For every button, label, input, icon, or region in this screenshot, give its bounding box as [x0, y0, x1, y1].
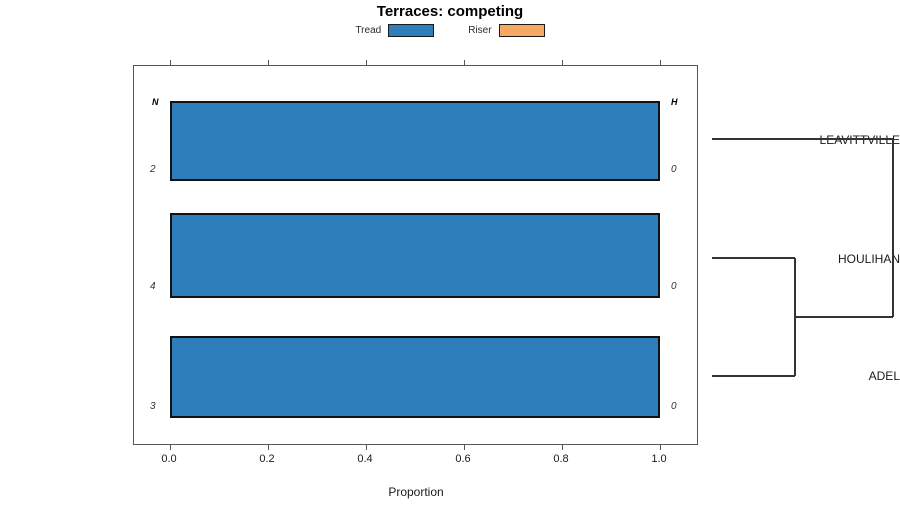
legend-item-riser[interactable]: Riser — [468, 24, 544, 37]
legend: Tread Riser — [0, 24, 900, 37]
row-count-left-adel: 3 — [150, 401, 156, 412]
xtick-label-2: 0.4 — [357, 453, 372, 465]
dendrogram-svg — [700, 65, 900, 445]
tick-bottom-5 — [660, 444, 661, 450]
tick-top-0 — [170, 60, 171, 66]
xtick-label-4: 0.8 — [553, 453, 568, 465]
x-axis-title: Proportion — [0, 485, 832, 499]
chart-root: Terraces: competing Tread Riser LEAVITTV… — [0, 0, 900, 520]
bar-tread-leavittville[interactable] — [170, 101, 660, 181]
tick-bottom-0 — [170, 444, 171, 450]
tick-top-2 — [366, 60, 367, 66]
row-count-right-adel: 0 — [671, 401, 677, 412]
tick-bottom-2 — [366, 444, 367, 450]
tick-bottom-3 — [464, 444, 465, 450]
tick-top-5 — [660, 60, 661, 66]
row-count-right-houlihan: 0 — [671, 281, 677, 292]
tick-top-4 — [562, 60, 563, 66]
legend-label-tread: Tread — [355, 25, 381, 36]
bar-tread-adel[interactable] — [170, 336, 660, 418]
row-count-left-houlihan: 4 — [150, 281, 156, 292]
row-count-right-leavittville: 0 — [671, 164, 677, 175]
row-header-left-n: N — [152, 97, 159, 107]
plot-panel: N H 2 0 4 0 3 0 — [133, 65, 698, 445]
dendrogram — [700, 65, 900, 445]
legend-swatch-riser — [499, 24, 545, 37]
tick-top-3 — [464, 60, 465, 66]
page-title: Terraces: competing — [0, 3, 900, 20]
xtick-label-5: 1.0 — [651, 453, 666, 465]
legend-item-tread[interactable]: Tread — [355, 24, 434, 37]
xtick-label-1: 0.2 — [259, 453, 274, 465]
row-header-right-h: H — [671, 97, 678, 107]
tick-top-1 — [268, 60, 269, 66]
tick-bottom-4 — [562, 444, 563, 450]
row-count-left-leavittville: 2 — [150, 164, 156, 175]
legend-label-riser: Riser — [468, 25, 491, 36]
xtick-label-3: 0.6 — [455, 453, 470, 465]
legend-swatch-tread — [388, 24, 434, 37]
tick-bottom-1 — [268, 444, 269, 450]
bar-tread-houlihan[interactable] — [170, 213, 660, 298]
xtick-label-0: 0.0 — [161, 453, 176, 465]
